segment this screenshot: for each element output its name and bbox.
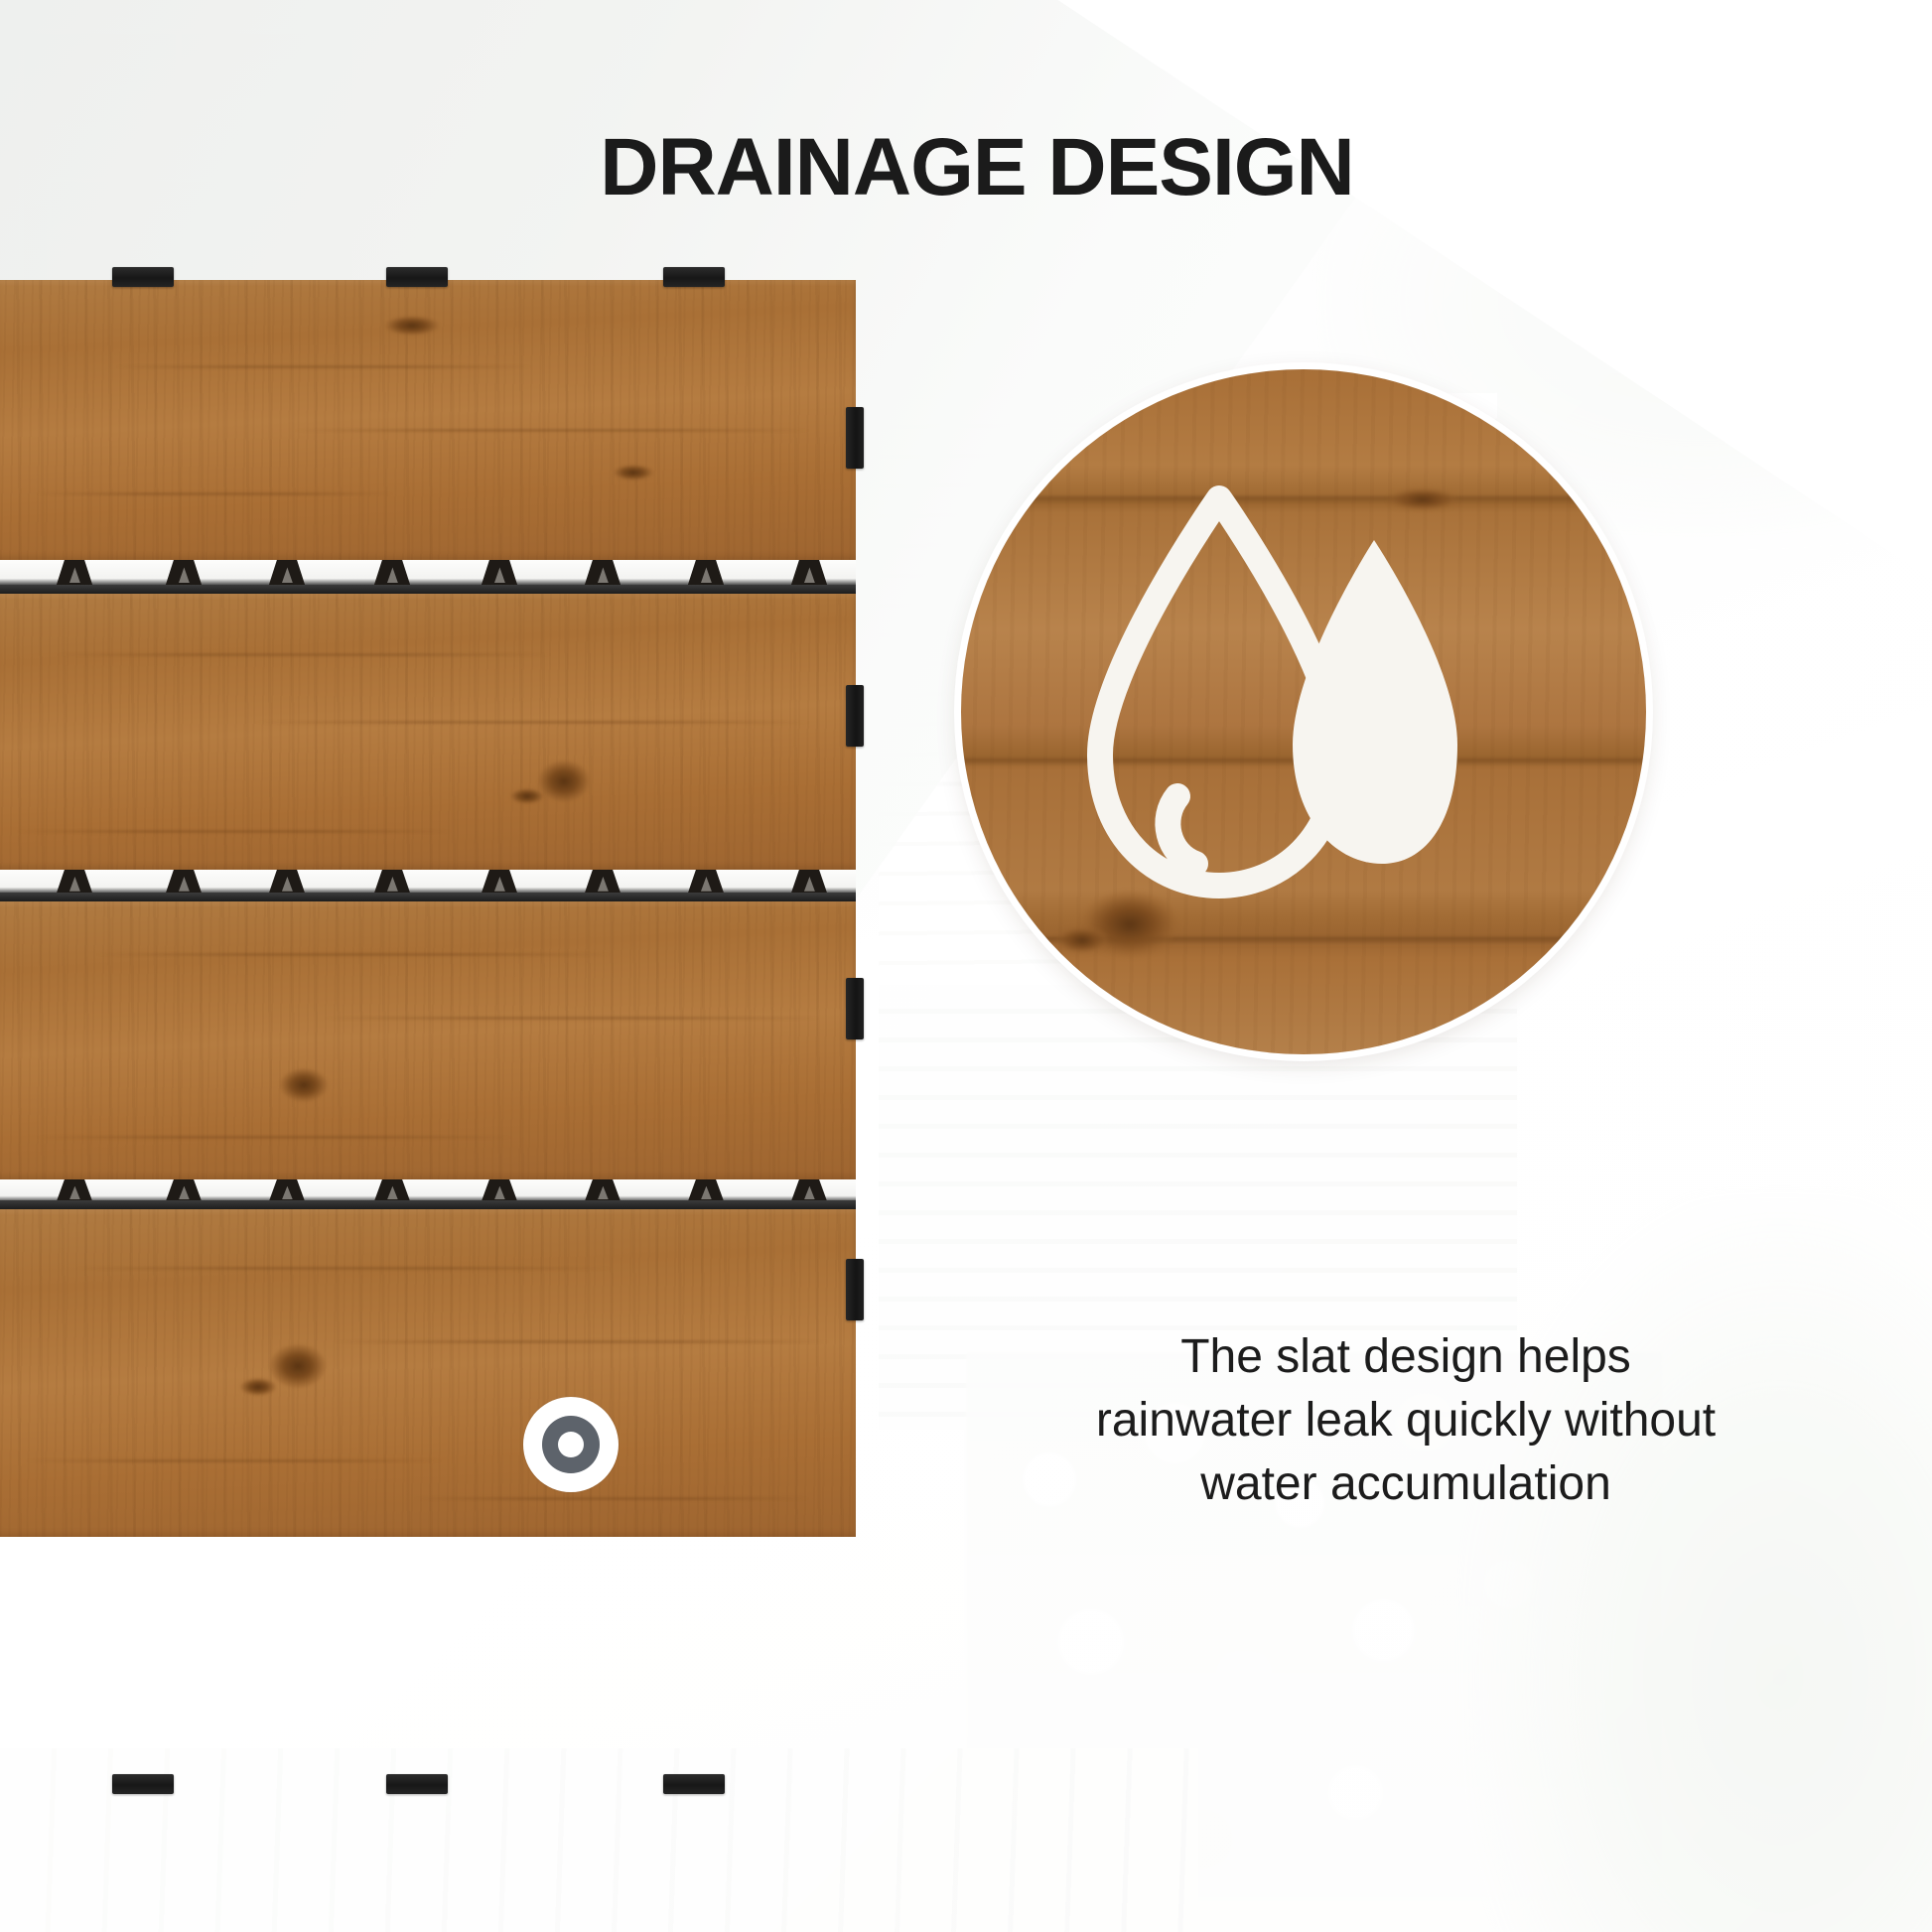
wood-grain-streak [294,429,810,432]
interlock-clip [112,1774,174,1794]
wood-slat [0,901,856,1179]
drainage-shadow-line [0,1200,856,1209]
water-drop-filled-icon [1293,540,1457,864]
wood-knot [280,1068,328,1102]
interlock-clip [663,1774,725,1794]
interlock-clip [846,978,864,1039]
interlock-clip [386,1774,448,1794]
wood-grain-streak [16,830,453,833]
water-drop-outline-icon [1100,498,1338,886]
water-drop-group [961,369,1646,1054]
wood-knot [270,1344,326,1388]
drainage-gap [0,1179,856,1209]
magnified-wood-knot [1388,488,1457,510]
caption-line-1: The slat design helps [1052,1325,1759,1389]
wood-slat [0,280,856,560]
drainage-shadow-line [0,585,856,594]
wood-grain-streak [95,953,612,956]
wood-grain-streak [324,1017,820,1020]
wood-grain-streak [75,1267,612,1270]
wood-grain-streak [36,1136,512,1139]
wood-grain-streak [36,492,393,495]
drainage-gap [0,560,856,594]
magnified-slat-seam [961,759,1646,765]
wood-slat [0,1209,856,1537]
wood-knot [614,465,653,481]
wood-deck-tile [0,280,856,1785]
wood-knot [385,316,439,336]
page-title: DRAINAGE DESIGN [0,127,1932,208]
caption-line-3: water accumulation [1052,1452,1759,1516]
interlock-clip [846,1259,864,1320]
drainage-gap [0,870,856,901]
wood-knot [510,788,544,804]
interlock-clip [663,267,725,287]
wood-knot [538,760,590,802]
wood-grain-streak [56,653,552,656]
wood-grain-streak [254,721,810,724]
caption-line-2: rainwater leak quickly without [1052,1389,1759,1452]
marker-center-dot [558,1432,584,1457]
magnified-wood-knot [1056,927,1108,953]
wood-grain-streak [413,1497,810,1500]
drainage-gap-target-marker[interactable] [523,1397,619,1492]
wood-grain-streak [26,1459,443,1462]
wood-slat [0,594,856,870]
interlock-clip [112,267,174,287]
marker-ring [542,1416,600,1473]
wood-grain-streak [115,365,532,368]
caption-block: The slat design helps rainwater leak qui… [1052,1325,1759,1515]
wood-grain-streak [334,1340,830,1343]
magnifier-circle [961,369,1646,1054]
drainage-shadow-line [0,893,856,901]
product-image-canvas: DRAINAGE DESIGN [0,0,1932,1932]
wood-knot [240,1378,276,1396]
interlock-clip [846,685,864,747]
interlock-clip [846,407,864,469]
magnified-slat-seam [961,496,1646,503]
interlock-clip [386,267,448,287]
